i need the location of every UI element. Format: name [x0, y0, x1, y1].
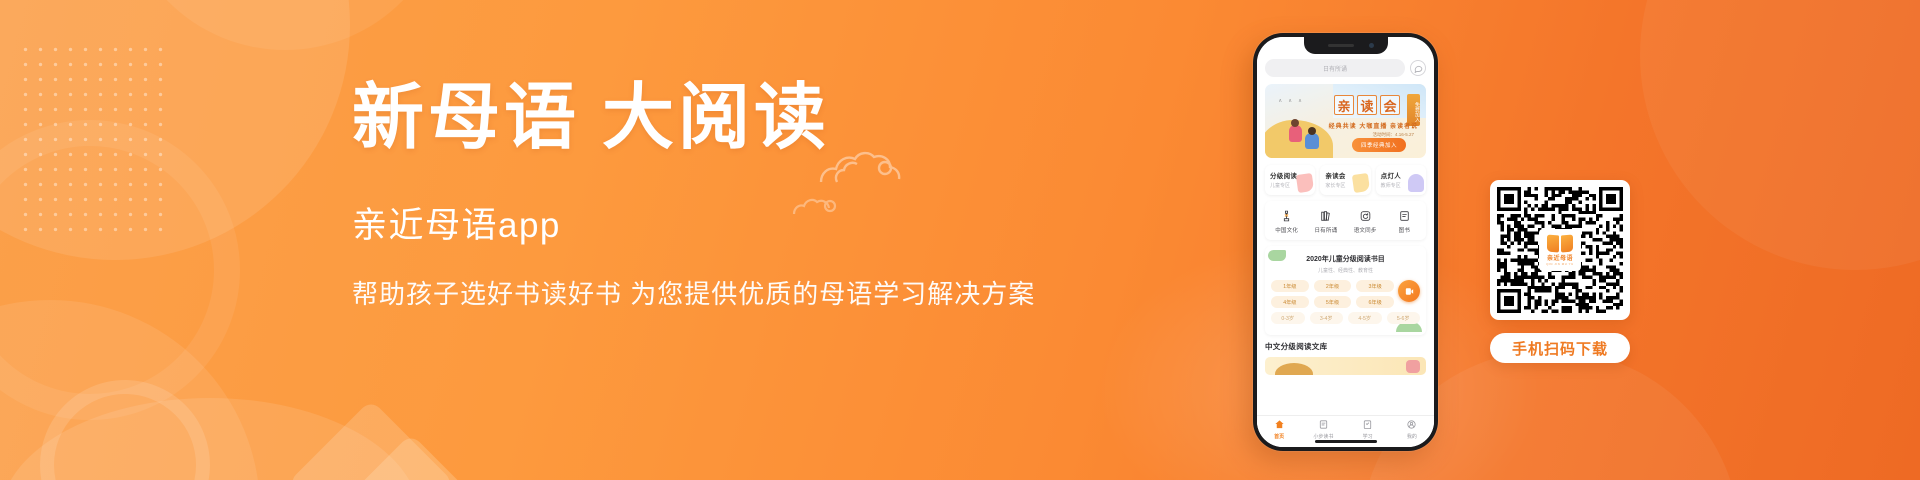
entry-card-parent-club[interactable]: 亲读会 家长专区 — [1320, 165, 1370, 195]
culture-icon — [1267, 208, 1306, 223]
decor-circle-bottom-left — [0, 300, 260, 480]
app-name: 亲近母语app — [352, 197, 1012, 248]
entry-card-teacher[interactable]: 点灯人 教师专区 — [1376, 165, 1426, 195]
banner-title-char: 读 — [1357, 95, 1377, 115]
quick-link-label: 中国文化 — [1267, 226, 1306, 234]
entry-card-graded-reading[interactable]: 分级阅读 儿童专区 — [1265, 165, 1315, 195]
phone-speaker — [1328, 44, 1354, 47]
brand-name-cn: 亲近母语 — [1547, 253, 1573, 262]
age-tag[interactable]: 0-3岁 — [1271, 312, 1305, 324]
library-section: 中文分级阅读文库 — [1265, 341, 1426, 375]
quick-link-label: 语文同步 — [1346, 226, 1385, 234]
decor-diamond — [288, 400, 455, 480]
profile-icon — [1390, 419, 1434, 431]
library-art-2 — [1406, 360, 1420, 373]
study-icon — [1346, 419, 1390, 431]
quick-link-label: 日有所诵 — [1306, 226, 1345, 234]
decor-ring-bottom-left — [40, 380, 210, 480]
app-screen: 日有所诵 ʌ ʌ ʌ 亲 读 会 — [1257, 37, 1434, 447]
grade-tag[interactable]: 4年级 — [1271, 296, 1309, 308]
grade-tag[interactable]: 6年级 — [1356, 296, 1394, 308]
grade-tag[interactable]: 1年级 — [1271, 280, 1309, 292]
age-tag[interactable]: 3-4岁 — [1310, 312, 1344, 324]
decor-ring-left — [0, 120, 240, 420]
home-icon — [1257, 419, 1301, 431]
tab-study[interactable]: 学习 — [1346, 419, 1390, 440]
search-row: 日有所诵 — [1265, 59, 1426, 77]
banner-subtitle: 经典共读 大咖直播 亲读者说 — [1329, 121, 1418, 130]
tab-label: 我的 — [1390, 433, 1434, 440]
banner-birds-icon: ʌ ʌ ʌ — [1279, 98, 1304, 104]
page-title: 新母语 大阅读 — [352, 78, 1012, 159]
brand-logo: 亲近母语 QIN JIN MU YU — [1539, 229, 1581, 271]
decor-circle-top-left — [0, 0, 350, 260]
phone-camera-icon — [1369, 43, 1374, 48]
leaf-decor-icon — [1268, 250, 1286, 261]
qr-download-block: 亲近母语 QIN JIN MU YU 手机扫码下载 — [1490, 180, 1650, 363]
person-art-icon — [1408, 174, 1424, 192]
entry-cards: 分级阅读 儿童专区 亲读会 家长专区 点灯人 教师专区 — [1265, 165, 1426, 195]
tab-reading[interactable]: 小步读书 — [1301, 419, 1345, 440]
decor-diamond-2 — [328, 434, 495, 480]
decor-wave-bottom-left — [0, 398, 420, 480]
book-art-icon — [1296, 173, 1314, 193]
search-input[interactable]: 日有所诵 — [1265, 59, 1405, 77]
brand-name-en: QIN JIN MU YU — [1546, 262, 1573, 266]
hero-copy: 新母语 大阅读 亲近母语app 帮助孩子选好书读好书 为您提供优质的母语学习解决… — [352, 78, 1012, 311]
reading-icon — [1301, 419, 1345, 431]
booklist-section: 2020年儿童分级阅读书目 儿童性、经典性、教育性 1年级 2年级 3年级 4年… — [1265, 246, 1426, 335]
message-icon[interactable] — [1410, 60, 1426, 76]
phone-home-indicator — [1315, 440, 1377, 443]
quick-link-daily-recite[interactable]: 日有所诵 — [1306, 208, 1345, 234]
library-card[interactable] — [1265, 357, 1426, 375]
grade-grid: 1年级 2年级 3年级 4年级 5年级 6年级 0-3岁 3-4岁 4- — [1271, 280, 1420, 324]
decor-circle-right — [1640, 0, 1920, 270]
tab-home[interactable]: 首页 — [1257, 419, 1301, 440]
tab-label: 首页 — [1257, 433, 1301, 440]
decor-circle-top-left-2 — [120, 0, 450, 50]
grade-tag[interactable]: 2年级 — [1314, 280, 1352, 292]
book-icon — [1385, 208, 1424, 223]
video-play-button[interactable] — [1398, 280, 1420, 302]
tagline: 帮助孩子选好书读好书 为您提供优质的母语学习解决方案 — [352, 274, 1012, 311]
book-stack-icon — [1306, 208, 1345, 223]
booklist-title: 2020年儿童分级阅读书目 — [1271, 254, 1420, 264]
banner-title-char: 亲 — [1334, 95, 1354, 115]
quick-link-label: 图书 — [1385, 226, 1424, 234]
banner-title-char: 会 — [1380, 95, 1400, 115]
library-title: 中文分级阅读文库 — [1265, 341, 1426, 352]
quick-links: 中国文化 日有所诵 — [1265, 201, 1426, 240]
book-art-icon — [1351, 173, 1369, 193]
library-art-1 — [1275, 363, 1313, 375]
banner-join-button[interactable]: 四季经典加入 — [1352, 138, 1406, 152]
sync-icon — [1346, 208, 1385, 223]
decor-dot-grid — [18, 42, 168, 232]
tab-profile[interactable]: 我的 — [1390, 419, 1434, 440]
promo-banner: 新母语 大阅读 亲近母语app 帮助孩子选好书读好书 为您提供优质的母语学习解决… — [0, 0, 1920, 480]
age-tag[interactable]: 4-5岁 — [1348, 312, 1382, 324]
download-button[interactable]: 手机扫码下载 — [1490, 333, 1630, 363]
phone-notch — [1304, 37, 1388, 54]
phone-mockup: 日有所诵 ʌ ʌ ʌ 亲 读 会 — [1253, 33, 1438, 451]
grade-row: 4年级 5年级 6年级 — [1271, 296, 1420, 308]
qr-code: 亲近母语 QIN JIN MU YU — [1497, 187, 1623, 313]
grade-tag[interactable]: 5年级 — [1314, 296, 1352, 308]
qr-code-card: 亲近母语 QIN JIN MU YU — [1490, 180, 1630, 320]
book-logo-icon — [1547, 235, 1573, 252]
age-row: 0-3岁 3-4岁 4-5岁 5-6岁 — [1271, 312, 1420, 324]
tab-label: 小步读书 — [1301, 433, 1345, 440]
quick-link-culture[interactable]: 中国文化 — [1267, 208, 1306, 234]
banner-child-1 — [1289, 125, 1302, 142]
banner-child-2 — [1305, 133, 1319, 149]
quick-link-books[interactable]: 图书 — [1385, 208, 1424, 234]
promo-card[interactable]: ʌ ʌ ʌ 亲 读 会 免费加入 经典共读 大咖直播 亲读者说 活动时间：4.1… — [1265, 84, 1426, 158]
banner-title: 亲 读 会 — [1334, 95, 1400, 115]
grade-tag[interactable]: 3年级 — [1356, 280, 1394, 292]
booklist-subtitle: 儿童性、经典性、教育性 — [1271, 267, 1420, 274]
quick-link-sync[interactable]: 语文同步 — [1346, 208, 1385, 234]
tab-label: 学习 — [1346, 433, 1390, 440]
age-tag[interactable]: 5-6岁 — [1387, 312, 1421, 324]
